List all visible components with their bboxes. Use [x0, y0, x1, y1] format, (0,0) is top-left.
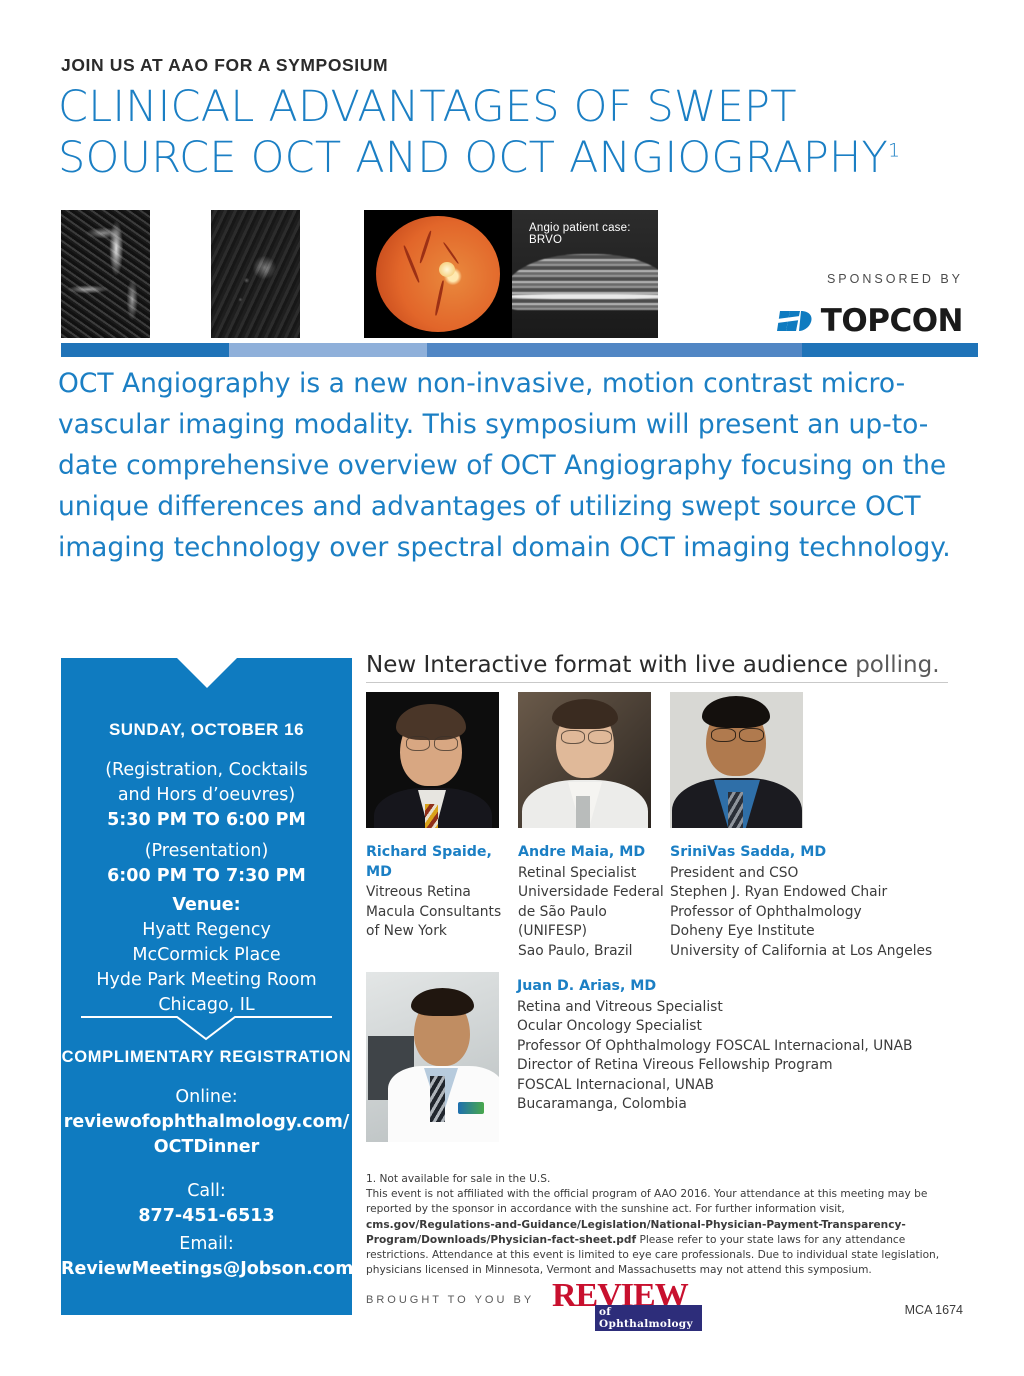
event-date: SUNDAY, OCTOBER 16: [61, 720, 352, 740]
job-code: MCA 1674: [905, 1303, 963, 1317]
presentation-time-block: (Presentation) 6:00 PM TO 7:30 PM: [61, 839, 352, 889]
online-url-line-2[interactable]: OCTDinner: [61, 1135, 352, 1160]
color-bar-segment-2: [229, 343, 427, 357]
registration-label-line-1: (Registration, Cocktails: [61, 758, 352, 783]
sponsored-by-label: SPONSORED BY: [827, 272, 963, 286]
topcon-wordmark: TOPCON: [821, 303, 963, 339]
speaker-bio-line: de São Paulo: [518, 904, 607, 920]
registration-time: 5:30 PM TO 6:00 PM: [61, 808, 352, 833]
speaker-bio-line: Sao Paulo, Brazil: [518, 943, 633, 959]
registration-label-line-2: and Hors d’oeuvres): [61, 783, 352, 808]
venue-line-1: Hyatt Regency: [61, 918, 352, 943]
page-title-superscript: 1: [888, 140, 900, 162]
speaker-bio-line: Professor of Ophthalmology: [670, 904, 862, 920]
speaker-name: Andre Maia, MD: [518, 843, 670, 863]
speaker-bio-row: Richard Spaide, MD Vitreous Retina Macul…: [366, 843, 970, 961]
speaker-bio-line: Vitreous Retina: [366, 884, 471, 900]
speaker-bio-line: Universidade Federal: [518, 884, 664, 900]
online-registration-block: Online: reviewofophthalmology.com/ OCTDi…: [61, 1085, 352, 1160]
accent-color-bar: [61, 343, 978, 357]
speaker-photo-juan-arias: [366, 972, 499, 1142]
registration-time-block: (Registration, Cocktails and Hors d’oeuv…: [61, 758, 352, 833]
brought-to-you-by-label: BROUGHT TO YOU BY: [366, 1294, 534, 1306]
speaker-four-row: Juan D. Arias, MD Retina and Vitreous Sp…: [366, 972, 913, 1142]
phone-block: Call: 877-451-6513: [61, 1179, 352, 1229]
heading-rule: [366, 682, 948, 683]
speaker-name: Juan D. Arias, MD: [517, 977, 913, 997]
review-of-ophthalmology-logo: REVIEW of Ophthalmology: [552, 1281, 702, 1317]
oct-angiography-thumbnail-2: [211, 210, 300, 338]
interactive-format-heading: New Interactive format with live audienc…: [366, 652, 946, 678]
speaker-photo-row: [366, 692, 803, 828]
speaker-bio: Richard Spaide, MD Vitreous Retina Macul…: [366, 843, 518, 961]
speaker-bio-line: Macula Consultants: [366, 904, 501, 920]
chevron-divider-icon: [81, 1015, 332, 1041]
topcon-mark-icon: [777, 307, 813, 335]
speaker-photo-andre-maia: [518, 692, 651, 828]
email-label: Email:: [61, 1232, 352, 1257]
interactive-heading-main: New Interactive format with live audienc…: [366, 652, 848, 678]
speaker-photo-richard-spaide: [366, 692, 499, 828]
speaker-name: Richard Spaide, MD: [366, 843, 518, 882]
page-title-line-2: SOURCE OCT AND OCT ANGIOGRAPHY: [58, 133, 888, 183]
fine-print-disclaimer: 1. Not available for sale in the U.S. Th…: [366, 1172, 966, 1278]
speaker-bio-line: (UNIFESP): [518, 923, 587, 939]
venue-block: Venue: Hyatt Regency McCormick Place Hyd…: [61, 893, 352, 1018]
online-label: Online:: [61, 1085, 352, 1110]
speaker-bio: Andre Maia, MD Retinal Specialist Univer…: [518, 843, 670, 961]
speaker-photo-srinivas-sadda: [670, 692, 803, 828]
online-url-line-1[interactable]: reviewofophthalmology.com/: [61, 1110, 352, 1135]
speaker-bio-line: Director of Retina Vireous Fellowship Pr…: [517, 1057, 833, 1073]
speaker-bio: Juan D. Arias, MD Retina and Vitreous Sp…: [517, 972, 913, 1142]
color-bar-segment-3: [427, 343, 802, 357]
review-subtitle: of Ophthalmology: [595, 1305, 702, 1331]
presentation-label: (Presentation): [61, 839, 352, 864]
fundus-photo: [364, 210, 512, 338]
intro-paragraph: OCT Angiography is a new non-invasive, m…: [58, 363, 958, 568]
footnote-text: 1. Not available for sale in the U.S.: [366, 1172, 966, 1187]
speaker-bio-line: Professor Of Ophthalmology FOSCAL Intern…: [517, 1038, 913, 1054]
speaker-bio-line: President and CSO: [670, 865, 798, 881]
interactive-heading-tail: polling.: [848, 652, 940, 678]
color-bar-segment-4: [802, 343, 978, 357]
phone-number[interactable]: 877-451-6513: [61, 1204, 352, 1229]
disclaimer-part-1: This event is not affiliated with the of…: [366, 1188, 927, 1215]
speaker-bio-line: Bucaramanga, Colombia: [517, 1096, 687, 1112]
angio-case-label: Angio patient case: BRVO: [529, 222, 658, 246]
page-title: CLINICAL ADVANTAGES OF SWEPT SOURCE OCT …: [58, 82, 978, 184]
speaker-bio-line: University of California at Los Angeles: [670, 943, 932, 959]
venue-label: Venue:: [61, 893, 352, 918]
speaker-bio-line: FOSCAL Internacional, UNAB: [517, 1077, 714, 1093]
call-label: Call:: [61, 1179, 352, 1204]
venue-line-3: Hyde Park Meeting Room: [61, 968, 352, 993]
event-details-sidebar: SUNDAY, OCTOBER 16 (Registration, Cockta…: [61, 658, 352, 1315]
disclaimer-text: This event is not affiliated with the of…: [366, 1187, 966, 1278]
presentation-time: 6:00 PM TO 7:30 PM: [61, 864, 352, 889]
email-block: Email: ReviewMeetings@Jobson.com: [61, 1232, 352, 1282]
speaker-name: SriniVas Sadda, MD: [670, 843, 970, 863]
speaker-bio-line: of New York: [366, 923, 447, 939]
speaker-bio-line: Ocular Oncology Specialist: [517, 1018, 702, 1034]
speaker-bio-line: Stephen J. Ryan Endowed Chair: [670, 884, 887, 900]
color-bar-segment-1: [61, 343, 229, 357]
topcon-logo: TOPCON: [777, 303, 963, 339]
angio-patient-case-image: Angio patient case: BRVO: [364, 210, 658, 338]
speaker-bio-line: Retinal Specialist: [518, 865, 636, 881]
speaker-bio-line: Doheny Eye Institute: [670, 923, 815, 939]
email-address[interactable]: ReviewMeetings@Jobson.com: [61, 1257, 352, 1282]
registration-heading: COMPLIMENTARY REGISTRATION: [61, 1048, 352, 1067]
speaker-bio: SriniVas Sadda, MD President and CSO Ste…: [670, 843, 970, 961]
speaker-bio-line: Retina and Vitreous Specialist: [517, 999, 723, 1015]
oct-angiography-thumbnail-1: [61, 210, 150, 338]
kicker-text: JOIN US AT AAO FOR A SYMPOSIUM: [61, 55, 388, 76]
page-title-line-1: CLINICAL ADVANTAGES OF SWEPT: [58, 82, 797, 132]
venue-line-2: McCormick Place: [61, 943, 352, 968]
sidebar-notch-shape: [177, 658, 237, 688]
